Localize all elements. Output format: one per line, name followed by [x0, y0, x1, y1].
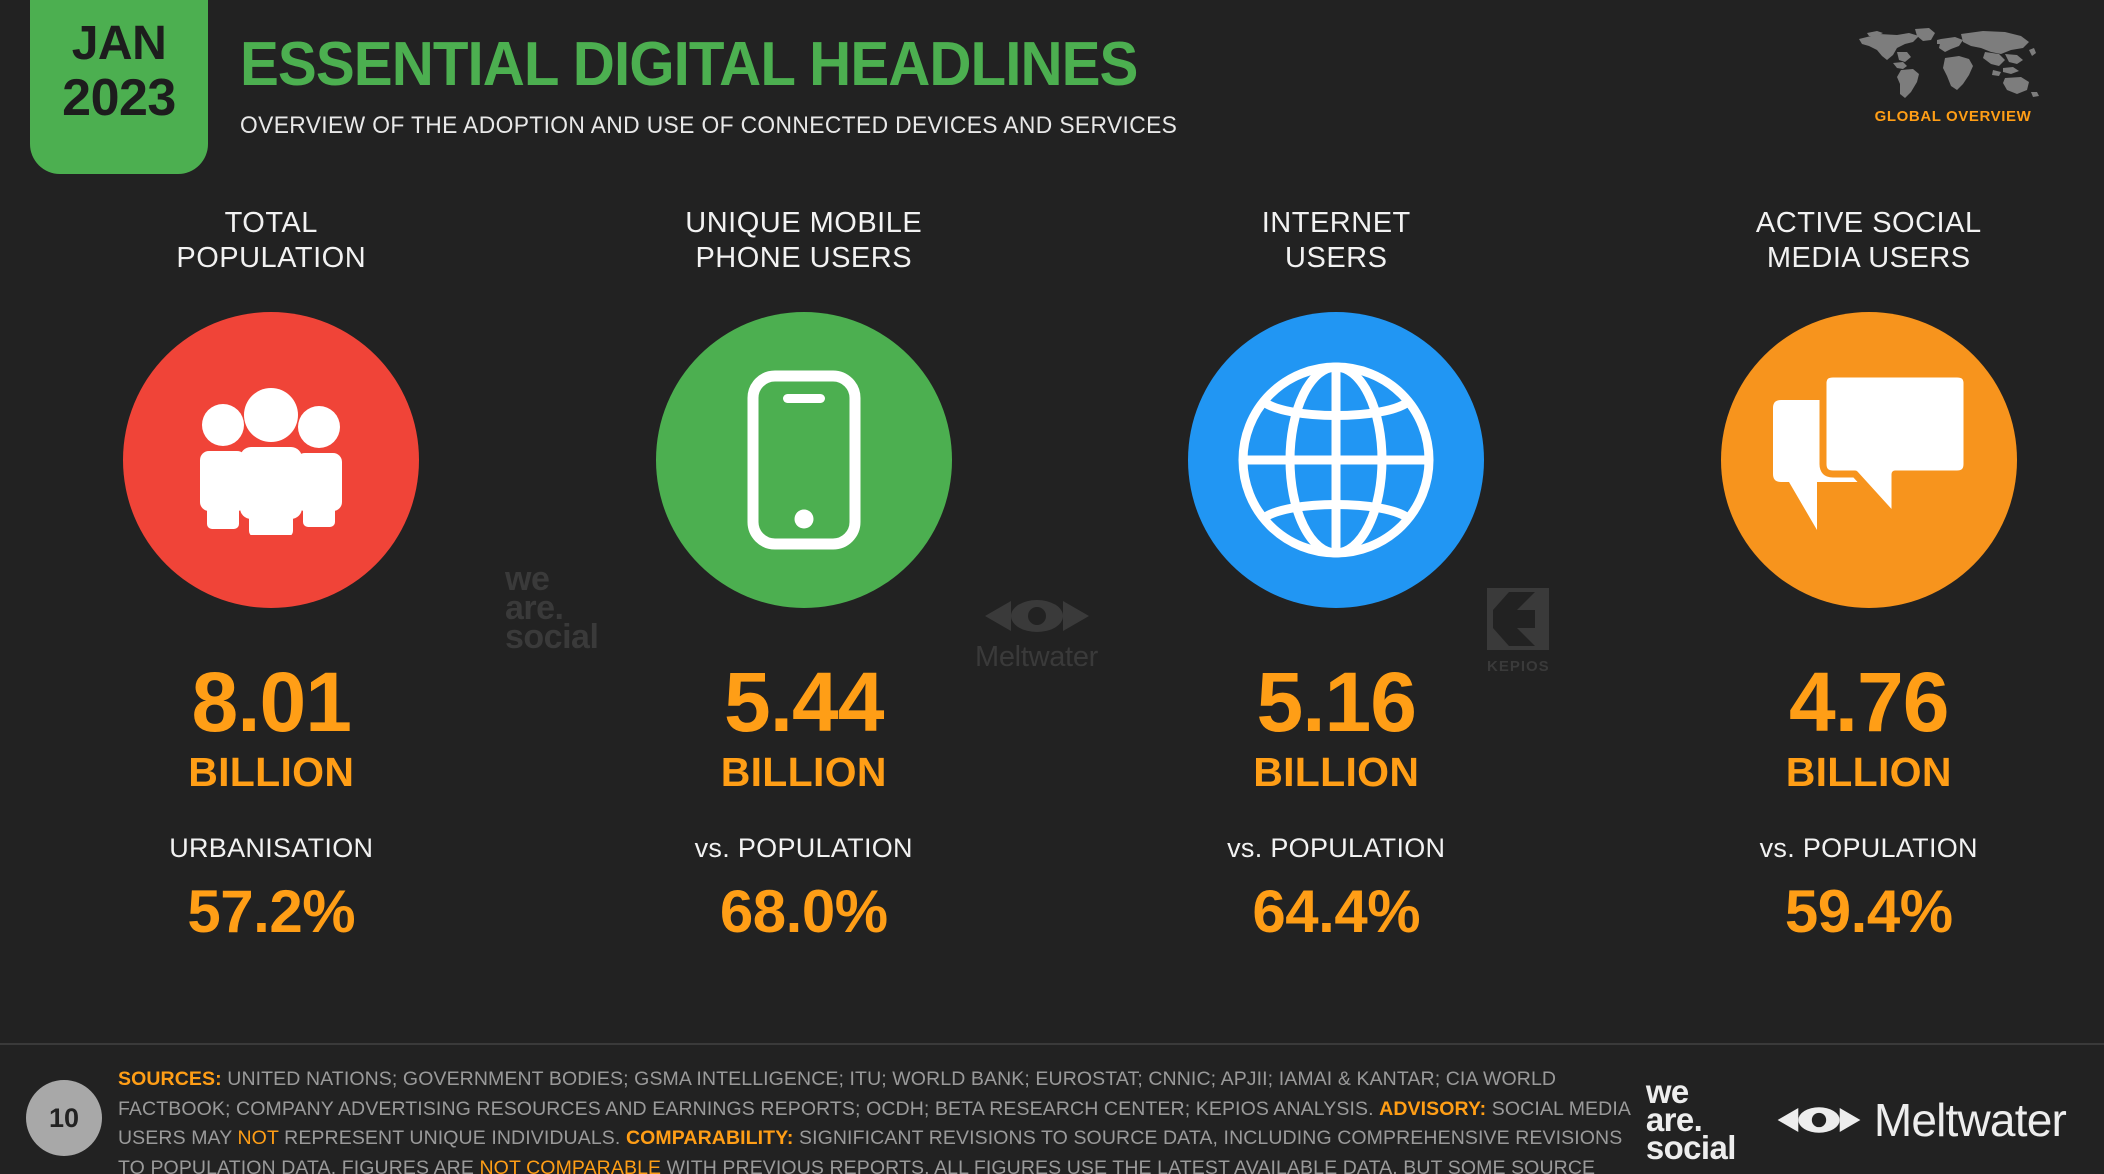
- metric-unit: BILLION: [36, 752, 507, 793]
- metrics-row: TOTAL POPULATION: [0, 206, 2104, 942]
- metric-icon-circle: [656, 312, 952, 608]
- meltwater-logo-label: Meltwater: [1874, 1093, 2066, 1147]
- metric-value: 4.76: [1634, 660, 2104, 744]
- metric-icon-circle: [1188, 312, 1484, 608]
- footer-logos: we are. social Meltwater: [1646, 1078, 2066, 1162]
- page-title: ESSENTIAL DIGITAL HEADLINES: [240, 34, 1167, 96]
- comparability-not: NOT COMPARABLE: [480, 1157, 662, 1174]
- metric-sub-label: vs. POPULATION: [569, 835, 1040, 862]
- comparability-label: COMPARABILITY:: [626, 1127, 794, 1149]
- we-are-social-logo: we are. social: [1646, 1078, 1736, 1162]
- metric-sub-value: 64.4%: [1101, 882, 1572, 942]
- metric-unit: BILLION: [569, 752, 1040, 793]
- speech-bubbles-icon: [1771, 370, 1967, 550]
- footer-divider: [0, 1043, 2104, 1045]
- meltwater-eye-icon: [1776, 1105, 1862, 1135]
- metric-sub-label: vs. POPULATION: [1101, 835, 1572, 862]
- metric-value: 8.01: [36, 660, 507, 744]
- metric-sub-value: 57.2%: [36, 882, 507, 942]
- metric-icon-circle: [1721, 312, 2017, 608]
- metric-sub-value: 68.0%: [569, 882, 1040, 942]
- slide-root: JAN 2023 ESSENTIAL DIGITAL HEADLINES OVE…: [0, 0, 2104, 1174]
- metric-card-internet-users: INTERNET USERS 5.16 BILLION vs. POPULATI…: [1101, 206, 1572, 942]
- metric-title: TOTAL POPULATION: [36, 206, 507, 282]
- date-month: JAN: [30, 16, 208, 71]
- metric-icon-circle: [123, 312, 419, 608]
- metric-card-total-population: TOTAL POPULATION: [36, 206, 507, 942]
- globe-icon: [1234, 358, 1438, 562]
- metric-sub-label: vs. POPULATION: [1634, 835, 2104, 862]
- metric-unit: BILLION: [1634, 752, 2104, 793]
- metric-sub-label: URBANISATION: [36, 835, 507, 862]
- metric-card-mobile-phone-users: UNIQUE MOBILE PHONE USERS 5.44 BILLION v…: [569, 206, 1040, 942]
- metric-sub-value: 59.4%: [1634, 882, 2104, 942]
- advisory-not: NOT: [238, 1127, 279, 1149]
- sources-label: SOURCES:: [118, 1068, 222, 1090]
- page-subtitle: OVERVIEW OF THE ADOPTION AND USE OF CONN…: [240, 112, 1177, 140]
- metric-unit: BILLION: [1101, 752, 1572, 793]
- sources-text: UNITED NATIONS; GOVERNMENT BODIES; GSMA …: [118, 1068, 1556, 1120]
- metric-card-social-media-users: ACTIVE SOCIAL MEDIA USERS 4.76 BILLION v…: [1634, 206, 2104, 942]
- advisory-text-2: REPRESENT UNIQUE INDIVIDUALS.: [284, 1127, 620, 1149]
- mobile-phone-icon: [744, 367, 864, 553]
- metric-value: 5.44: [569, 660, 1040, 744]
- scope-label: GLOBAL OVERVIEW: [1848, 108, 2058, 125]
- date-tab: JAN 2023: [30, 0, 208, 174]
- metric-title: UNIQUE MOBILE PHONE USERS: [569, 206, 1040, 282]
- advisory-label: ADVISORY:: [1379, 1098, 1486, 1120]
- date-year: 2023: [30, 68, 208, 128]
- scope-block: GLOBAL OVERVIEW: [1848, 22, 2058, 125]
- page-number-badge: 10: [26, 1080, 102, 1156]
- metric-title: ACTIVE SOCIAL MEDIA USERS: [1634, 206, 2104, 282]
- metric-value: 5.16: [1101, 660, 1572, 744]
- world-map-icon: [1853, 22, 2053, 102]
- header: JAN 2023 ESSENTIAL DIGITAL HEADLINES OVE…: [0, 0, 2104, 176]
- people-group-icon: [183, 385, 359, 535]
- metric-title: INTERNET USERS: [1101, 206, 1572, 282]
- title-block: ESSENTIAL DIGITAL HEADLINES OVERVIEW OF …: [240, 34, 1227, 140]
- meltwater-logo: Meltwater: [1776, 1093, 2066, 1147]
- footnotes: SOURCES: UNITED NATIONS; GOVERNMENT BODI…: [118, 1065, 1638, 1174]
